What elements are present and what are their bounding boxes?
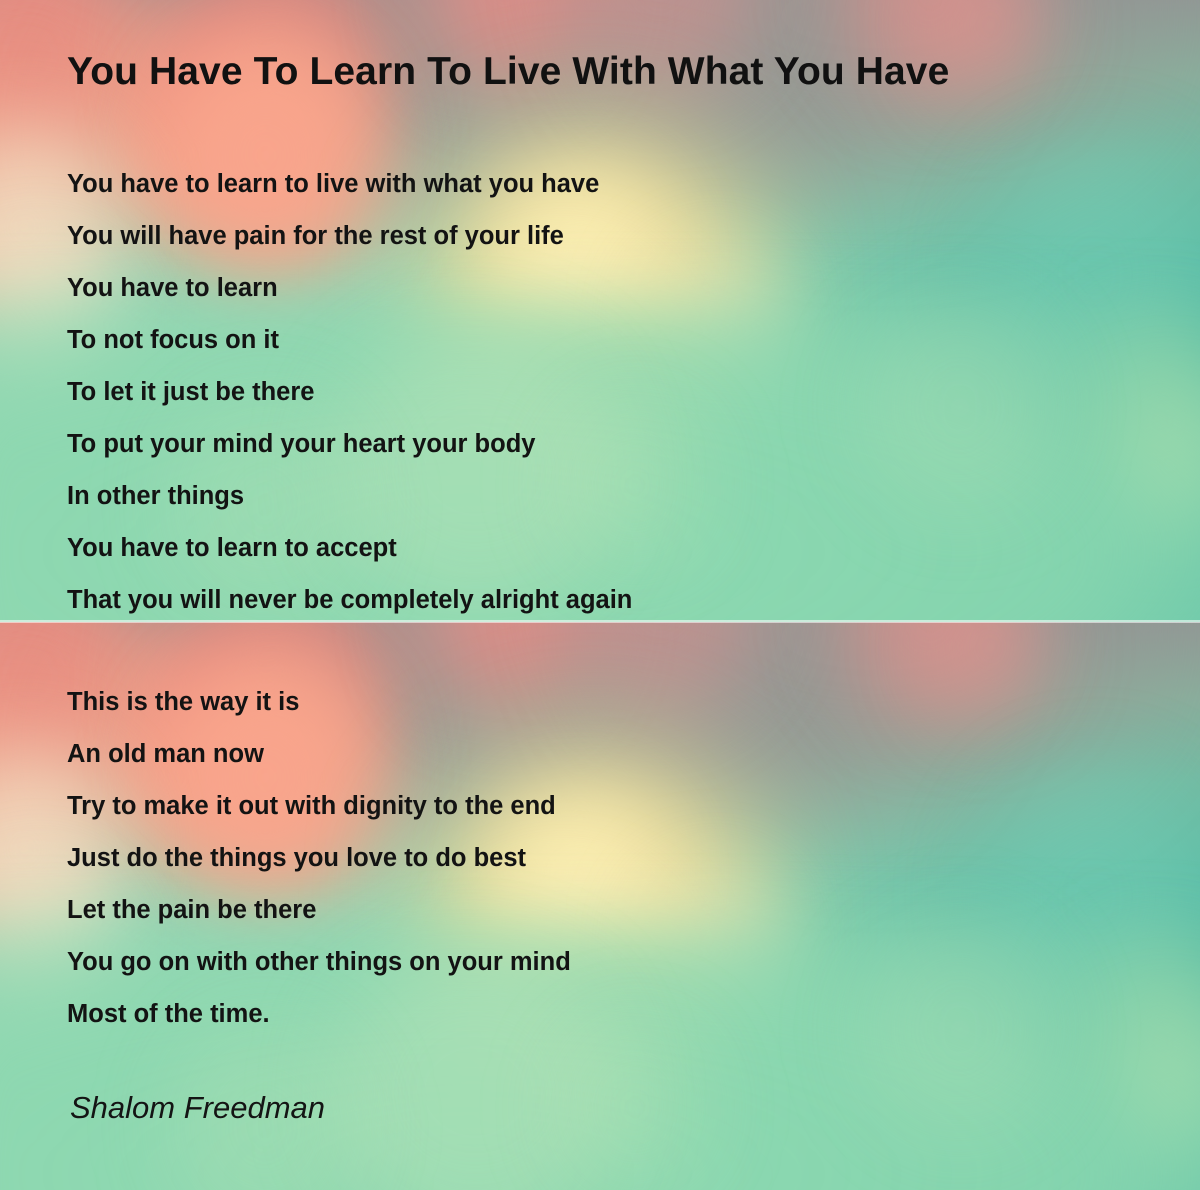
poem-stanza-1: You have to learn to live with what you … [67, 158, 632, 626]
poem-line: In other things [67, 470, 632, 522]
poem-stanza-2: This is the way it is An old man now Try… [67, 676, 571, 1040]
poem-line: Most of the time. [67, 988, 571, 1040]
poem-line: To not focus on it [67, 314, 632, 366]
poem-image: You Have To Learn To Live With What You … [0, 0, 1200, 1190]
poem-line: To put your mind your heart your body [67, 418, 632, 470]
poem-line: Let the pain be there [67, 884, 571, 936]
poem-line: You have to learn to live with what you … [67, 158, 632, 210]
poem-line: You have to learn [67, 262, 632, 314]
poem-line: Just do the things you love to do best [67, 832, 571, 884]
poem-title: You Have To Learn To Live With What You … [67, 50, 949, 94]
poem-line: Try to make it out with dignity to the e… [67, 780, 571, 832]
poem-author: Shalom Freedman [70, 1090, 325, 1126]
poem-line: An old man now [67, 728, 571, 780]
poem-line: To let it just be there [67, 366, 632, 418]
poem-line: You go on with other things on your mind [67, 936, 571, 988]
poem-line: This is the way it is [67, 676, 571, 728]
poem-line: You have to learn to accept [67, 522, 632, 574]
poem-line: That you will never be completely alrigh… [67, 574, 632, 626]
poem-line: You will have pain for the rest of your … [67, 210, 632, 262]
poem-content: You Have To Learn To Live With What You … [0, 0, 1200, 1190]
